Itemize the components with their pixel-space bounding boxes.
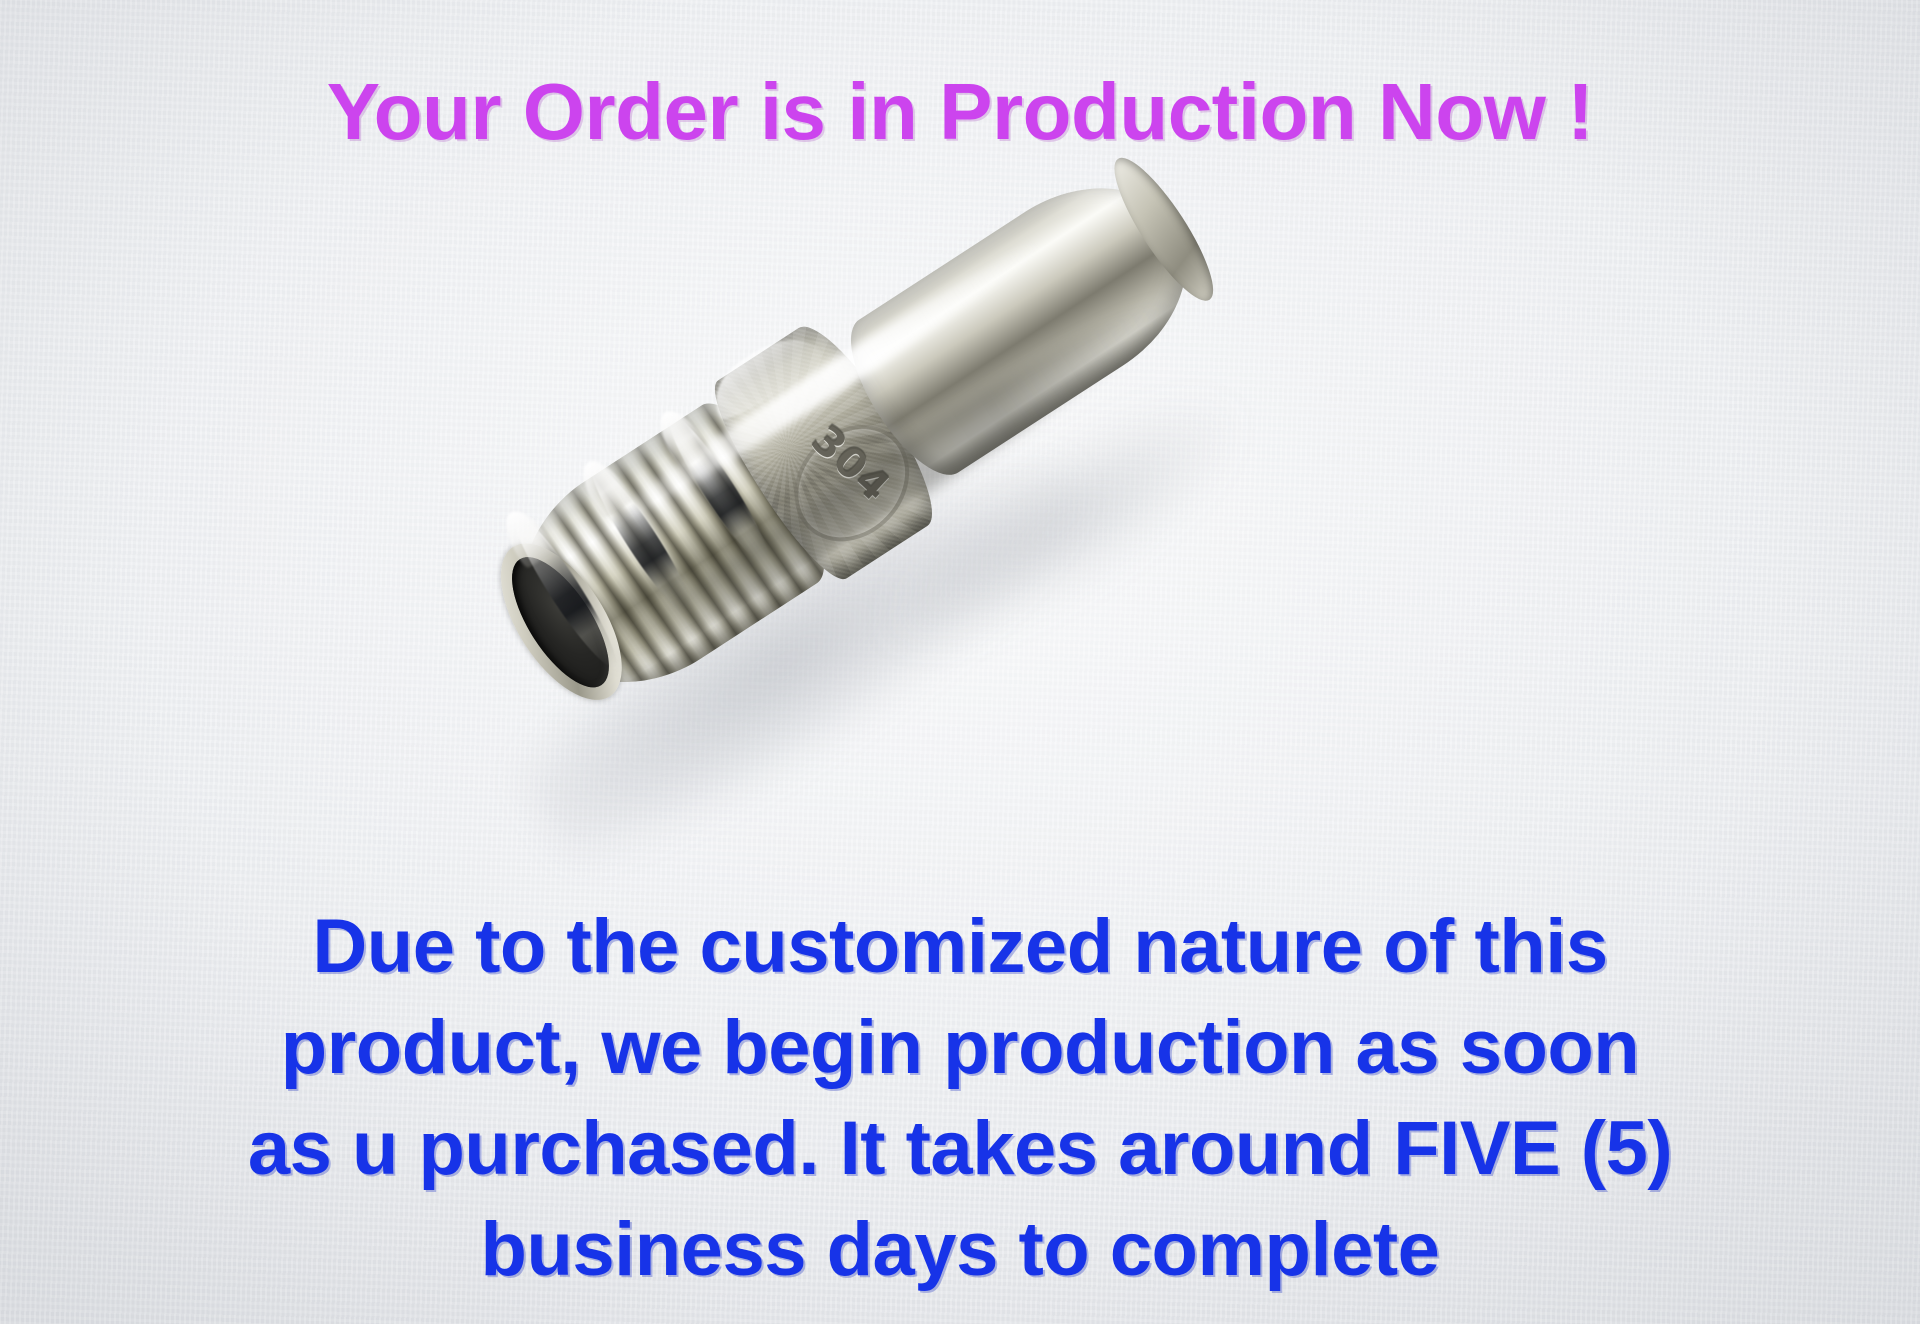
message-line-4: business days to complete [110, 1199, 1810, 1300]
message-line-3: as u purchased. It takes around FIVE (5) [110, 1098, 1810, 1199]
message-line-2: product, we begin production as soon [110, 997, 1810, 1098]
message-line-1: Due to the customized nature of this [110, 896, 1810, 997]
headline-text: Your Order is in Production Now ! [0, 72, 1920, 152]
notice-graphic: Your Order is in Production Now ! 304 [0, 0, 1920, 1324]
product-photo: 304 [430, 250, 1430, 870]
message-block: Due to the customized nature of this pro… [110, 896, 1810, 1300]
